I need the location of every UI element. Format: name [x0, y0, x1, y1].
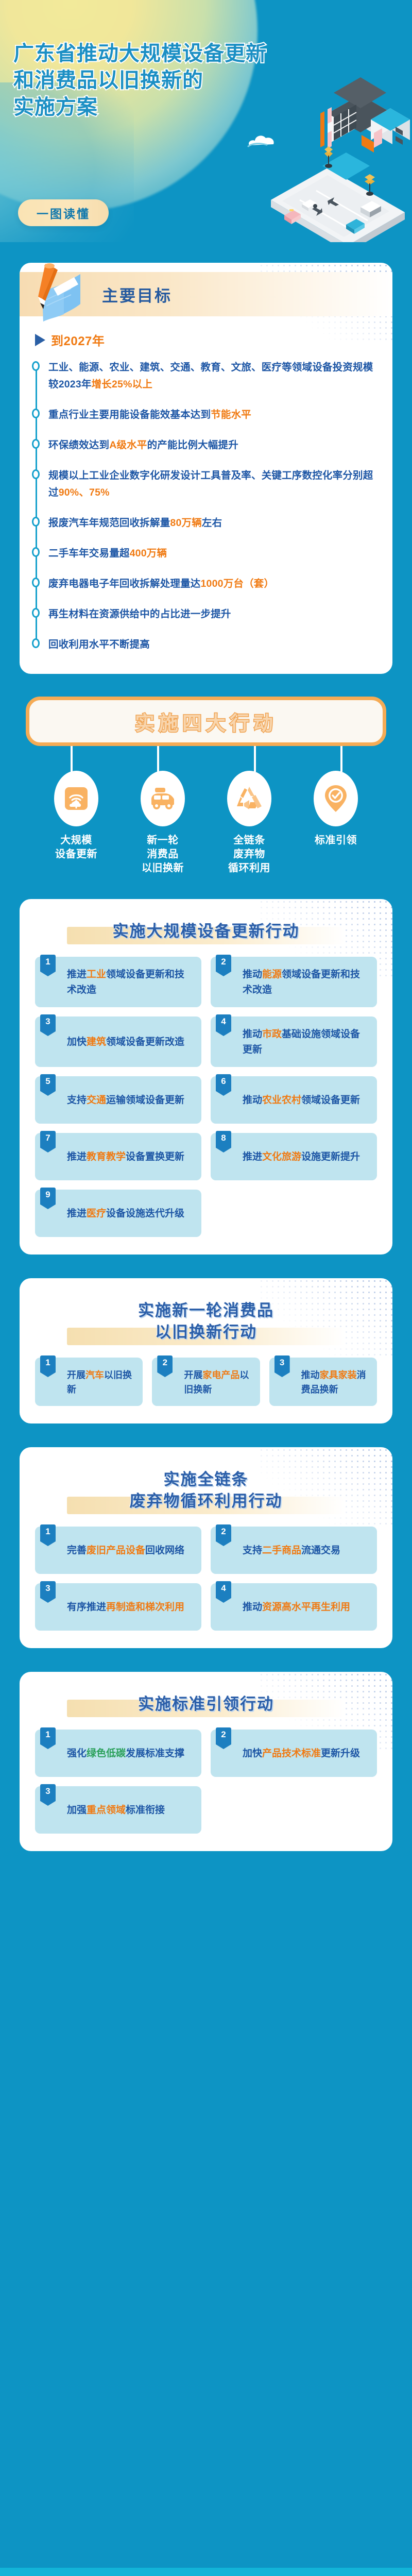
goal-item: 环保绩效达到A级水平的产能比例大幅提升: [48, 437, 375, 454]
goal-item: 再生材料在资源供给中的占比进一步提升: [48, 606, 375, 623]
action-section-title: 实施标准引领行动: [35, 1693, 377, 1715]
stem-2: [157, 746, 159, 772]
goal-item: 废弃电器电子年回收拆解处理量达1000万台（套）: [48, 575, 375, 592]
action-item-highlight: 重点领域: [87, 1805, 126, 1816]
action-item-number-badge: 8: [216, 1131, 231, 1153]
action-item-plain: 设备置换更新: [126, 1151, 184, 1162]
action-item-highlight: 市政: [262, 1029, 282, 1040]
recycle-icon: [236, 786, 263, 811]
action-item-text: 有序推进再制造和梯次利用: [67, 1600, 184, 1615]
goal-highlight: 80万辆: [170, 517, 202, 529]
goal-plain: 回收利用水平不断提高: [48, 639, 150, 650]
four-action-item-2[interactable]: 新一轮消费品以旧换新: [132, 771, 194, 875]
action-item-number-badge: 4: [216, 1014, 231, 1036]
action-item-highlight: 医疗: [87, 1208, 106, 1219]
action-item-plain: 回收网络: [145, 1545, 184, 1556]
action-item-text: 开展家电产品以旧换新: [184, 1368, 252, 1397]
action-item-highlight: 文化旅游: [262, 1151, 301, 1162]
goal-bullet-icon: [32, 517, 40, 527]
device-upgrade-icon: [63, 785, 90, 812]
action-item[interactable]: 7推进教育教学设备置换更新: [35, 1133, 201, 1180]
goal-bullet-icon: [32, 469, 40, 479]
isometric-city-illustration: [250, 77, 412, 242]
action-item[interactable]: 1开展汽车以旧换新: [35, 1358, 143, 1406]
action-item[interactable]: 2推动能源领域设备更新和技术改造: [211, 957, 377, 1007]
action-item[interactable]: 4推动资源高水平再生利用: [211, 1583, 377, 1631]
four-action-label-line: 设备更新: [55, 848, 97, 861]
four-actions-section: 实施四大行动: [0, 674, 412, 875]
action-item-highlight: 交通: [87, 1095, 106, 1106]
action-item-number-badge: 1: [40, 1524, 56, 1546]
standard-check-icon: [324, 784, 348, 813]
action-item-plain: 加快: [67, 1037, 87, 1047]
action-item-highlight: 建筑: [87, 1037, 106, 1047]
four-actions-title-box: 实施四大行动: [26, 697, 386, 746]
goal-highlight: 增长25%以上: [92, 379, 152, 390]
hero-title-line-3: 实施方案: [13, 94, 267, 121]
action-item-plain: 推进: [243, 1151, 262, 1162]
four-action-bulb-3: [227, 771, 271, 826]
four-actions-stems: [26, 746, 386, 772]
goal-text: 规模以上工业企业数字化研发设计工具普及率、关键工序数控化率分别超过90%、75%: [48, 467, 375, 501]
action-item-number-badge: 1: [40, 1355, 56, 1377]
action-item-plain: 支持: [243, 1545, 262, 1556]
goal-item: 工业、能源、农业、建筑、交通、教育、文旅、医疗等领域设备投资规模较2023年增长…: [48, 359, 375, 393]
action-item[interactable]: 1强化绿色低碳发展标准支撑: [35, 1730, 201, 1777]
action-item-number-badge: 2: [216, 1727, 231, 1749]
four-actions-title: 实施四大行动: [135, 707, 277, 736]
action-item-highlight: 资源高水平再生利用: [262, 1602, 350, 1613]
action-item-plain: 推动: [243, 969, 262, 980]
action-item-number-badge: 1: [40, 1727, 56, 1749]
action-item-plain: 推动: [243, 1602, 262, 1613]
action-item-text: 推动农业农村领域设备更新: [243, 1093, 360, 1108]
action-item[interactable]: 3推动家具家装消费品换新: [269, 1358, 377, 1406]
action-item-number-badge: 6: [216, 1074, 231, 1096]
action-item[interactable]: 2开展家电产品以旧换新: [152, 1358, 260, 1406]
action-section-title-line: 实施新一轮消费品: [35, 1300, 377, 1321]
action-item-plain: 推动: [243, 1095, 262, 1106]
action-item-text: 推进医疗设备设施迭代升级: [67, 1206, 184, 1222]
goal-bullet-icon: [32, 439, 40, 449]
goal-highlight: 90%、75%: [59, 487, 110, 498]
action-item-text: 推动家具家装消费品换新: [301, 1368, 370, 1397]
action-section-title-line: 实施全链条: [35, 1469, 377, 1490]
action-section-title-line: 实施大规模设备更新行动: [35, 921, 377, 942]
action-item-text: 完善废旧产品设备回收网络: [67, 1543, 184, 1558]
action-item-number-badge: 2: [216, 1524, 231, 1546]
action-item-plain: 领域设备更新: [301, 1095, 360, 1106]
hero-title: 广东省推动大规模设备更新 和消费品以旧换新的 实施方案: [13, 40, 267, 121]
action-item[interactable]: 3加强重点领域标准衔接: [35, 1786, 201, 1834]
action-sections: 实施大规模设备更新行动1推进工业领域设备更新和技术改造2推动能源领域设备更新和技…: [0, 899, 412, 1851]
goal-item: 二手车年交易量超400万辆: [48, 545, 375, 562]
goal-plain: 的产能比例大幅提升: [147, 439, 238, 451]
action-item-number-badge: 4: [216, 1581, 231, 1603]
action-item-plain: 设施更新提升: [301, 1151, 360, 1162]
goal-bullet-icon: [32, 638, 40, 648]
action-item-plain: 有序推进: [67, 1602, 106, 1613]
four-action-label-line: 循环利用: [228, 861, 270, 875]
action-item-number-badge: 7: [40, 1131, 56, 1153]
action-item[interactable]: 6推动农业农村领域设备更新: [211, 1076, 377, 1124]
action-item-number-badge: 5: [40, 1074, 56, 1096]
goal-item: 重点行业主要用能设备能效基本达到节能水平: [48, 406, 375, 423]
action-item-plain: 设备设施迭代升级: [106, 1208, 184, 1219]
action-item-highlight: 家电产品: [202, 1370, 239, 1380]
footer-bar: 广东省人民政府门户网站: [0, 2568, 412, 2576]
action-item-text: 加快建筑领域设备更新改造: [67, 1035, 184, 1050]
action-item[interactable]: 2加快产品技术标准更新升级: [211, 1730, 377, 1777]
action-item-text: 推动市政基础设施领域设备更新: [243, 1027, 370, 1058]
hero-banner: 广东省推动大规模设备更新 和消费品以旧换新的 实施方案 一图读懂: [0, 0, 412, 242]
goal-highlight: 节能水平: [211, 409, 251, 420]
action-section-title: 实施新一轮消费品以旧换新行动: [35, 1300, 377, 1343]
four-action-label-line: 全链条: [228, 834, 270, 848]
goal-text: 二手车年交易量超400万辆: [48, 545, 375, 562]
action-item-plain: 支持: [67, 1095, 87, 1106]
goal-text: 再生材料在资源供给中的占比进一步提升: [48, 606, 375, 623]
action-item-plain: 领域设备更新改造: [106, 1037, 184, 1047]
goal-bullet-icon: [32, 578, 40, 587]
action-item[interactable]: 4推动市政基础设施领域设备更新: [211, 1016, 377, 1067]
action-item-text: 开展汽车以旧换新: [67, 1368, 135, 1397]
four-action-bulb-4: [314, 771, 358, 826]
action-item-number-badge: 1: [40, 955, 56, 976]
goal-item: 报废汽车年规范回收拆解量80万辆左右: [48, 515, 375, 532]
stem-1: [71, 746, 73, 772]
action-section-title-wrap: 实施全链条废弃物循环利用行动: [35, 1465, 377, 1515]
four-action-label-1: 大规模设备更新: [55, 834, 97, 861]
goal-item: 回收利用水平不断提高: [48, 636, 375, 653]
four-action-label-line: 大规模: [55, 834, 97, 848]
action-item[interactable]: 2支持二手商品流通交易: [211, 1527, 377, 1574]
main-goals-heading: 主要目标: [102, 283, 172, 306]
action-item-highlight: 产品技术标准: [262, 1748, 321, 1759]
action-item[interactable]: 1完善废旧产品设备回收网络: [35, 1527, 201, 1574]
action-item-text: 推进教育教学设备置换更新: [67, 1149, 184, 1165]
goal-plain: 环保绩效达到: [48, 439, 109, 451]
goal-plain: 二手车年交易量超: [48, 548, 130, 559]
action-item-plain: 推进: [67, 969, 87, 980]
four-action-label-line: 消费品: [142, 848, 184, 861]
four-action-item-1[interactable]: 大规模设备更新: [45, 771, 107, 875]
four-action-label-4: 标准引领: [315, 834, 357, 848]
goal-plain: 左右: [202, 517, 222, 529]
action-item-number-badge: 3: [40, 1784, 56, 1806]
action-item-plain: 加快: [243, 1748, 262, 1759]
action-item-plain: 完善: [67, 1545, 87, 1556]
hero-title-line-2: 和消费品以旧换新的: [13, 67, 267, 94]
stem-3: [254, 746, 256, 772]
goal-plain: 重点行业主要用能设备能效基本达到: [48, 409, 211, 420]
goal-text: 废弃电器电子年回收拆解处理量达1000万台（套）: [48, 575, 375, 592]
action-section-title: 实施全链条废弃物循环利用行动: [35, 1469, 377, 1512]
four-action-label-line: 废弃物: [228, 848, 270, 861]
main-goals-list: 工业、能源、农业、建筑、交通、教育、文旅、医疗等领域设备投资规模较2023年增长…: [20, 356, 392, 653]
read-in-one-image-label: 一图读懂: [37, 204, 90, 222]
action-item-number-badge: 2: [157, 1355, 173, 1377]
goal-highlight: 1000万台（套）: [201, 578, 274, 589]
action-item-plain: 推进: [67, 1208, 87, 1219]
four-action-label-line: 以旧换新: [142, 861, 184, 875]
goal-text: 环保绩效达到A级水平的产能比例大幅提升: [48, 437, 375, 454]
goal-highlight: A级水平: [109, 439, 147, 451]
action-item-number-badge: 9: [40, 1188, 56, 1209]
four-action-bulb-1: [54, 771, 98, 826]
goal-highlight: 400万辆: [130, 548, 167, 559]
infographic-page: 广东省推动大规模设备更新 和消费品以旧换新的 实施方案 一图读懂: [0, 0, 412, 2576]
action-section-title: 实施大规模设备更新行动: [35, 921, 377, 942]
action-item-text: 推动能源领域设备更新和技术改造: [243, 967, 370, 998]
action-section-title-line: 以旧换新行动: [35, 1321, 377, 1343]
action-item-highlight: 汽车: [85, 1370, 104, 1380]
action-item-number-badge: 3: [40, 1014, 56, 1036]
action-item-plain: 开展: [67, 1370, 85, 1380]
action-section-title-line: 废弃物循环利用行动: [35, 1490, 377, 1512]
action-section-title-wrap: 实施新一轮消费品以旧换新行动: [35, 1296, 377, 1346]
action-item-number-badge: 2: [216, 955, 231, 976]
goal-text: 工业、能源、农业、建筑、交通、教育、文旅、医疗等领域设备投资规模较2023年增长…: [48, 359, 375, 393]
goals-timeline-spine: [36, 363, 37, 645]
stem-4: [340, 746, 342, 772]
action-item-highlight: 家具家装: [320, 1370, 357, 1380]
action-item-highlight: 绿色低碳: [87, 1748, 126, 1759]
action-section-title-line: 实施标准引领行动: [35, 1693, 377, 1715]
action-item-plain: 运输领域设备更新: [106, 1095, 184, 1106]
main-goals-card: 主要目标 到2027年 工业、能源、农业、建筑、交通、教育、文旅、医疗等领域设备…: [20, 263, 392, 674]
goal-text: 回收利用水平不断提高: [48, 636, 375, 653]
action-item-text: 强化绿色低碳发展标准支撑: [67, 1746, 184, 1761]
action-item-grid: 1开展汽车以旧换新2开展家电产品以旧换新3推动家具家装消费品换新: [35, 1358, 377, 1406]
action-item-text: 推进文化旅游设施更新提升: [243, 1149, 360, 1165]
action-item-plain: 推进: [67, 1151, 87, 1162]
action-item-highlight: 能源: [262, 969, 282, 980]
action-item-text: 支持交通运输领域设备更新: [67, 1093, 184, 1108]
four-action-label-line: 新一轮: [142, 834, 184, 848]
action-item[interactable]: 3有序推进再制造和梯次利用: [35, 1583, 201, 1631]
action-item-number-badge: 3: [274, 1355, 290, 1377]
goal-plain: 废弃电器电子年回收拆解处理量达: [48, 578, 201, 589]
action-item-highlight: 废旧产品设备: [87, 1545, 145, 1556]
action-section-title-wrap: 实施大规模设备更新行动: [35, 917, 377, 945]
action-item-grid: 1完善废旧产品设备回收网络2支持二手商品流通交易3有序推进再制造和梯次利用4推动…: [35, 1527, 377, 1631]
action-section-card: 实施全链条废弃物循环利用行动1完善废旧产品设备回收网络2支持二手商品流通交易3有…: [20, 1447, 392, 1648]
action-item-plain: 流通交易: [301, 1545, 340, 1556]
goal-plain: 报废汽车年规范回收拆解量: [48, 517, 170, 529]
action-section-title-wrap: 实施标准引领行动: [35, 1689, 377, 1718]
action-section-card: 实施新一轮消费品以旧换新行动1开展汽车以旧换新2开展家电产品以旧换新3推动家具家…: [20, 1278, 392, 1423]
four-action-label-line: 标准引领: [315, 834, 357, 848]
goal-text: 报废汽车年规范回收拆解量80万辆左右: [48, 515, 375, 532]
read-in-one-image-badge: 一图读懂: [18, 199, 109, 226]
four-action-label-2: 新一轮消费品以旧换新: [142, 834, 184, 875]
action-item-highlight: 教育教学: [87, 1151, 126, 1162]
goal-bullet-icon: [32, 547, 40, 557]
action-item-plain: 发展标准支撑: [126, 1748, 184, 1759]
action-item-text: 支持二手商品流通交易: [243, 1543, 340, 1558]
action-item-text: 推动资源高水平再生利用: [243, 1600, 350, 1615]
triangle-bullet-icon: [35, 334, 45, 346]
action-item-text: 加强重点领域标准衔接: [67, 1803, 165, 1818]
four-action-item-4[interactable]: 标准引领: [305, 771, 367, 875]
car-trade-in-icon: [148, 787, 177, 810]
action-item-plain: 加强: [67, 1805, 87, 1816]
main-goals-header: 主要目标: [20, 272, 392, 316]
action-section-card: 实施大规模设备更新行动1推进工业领域设备更新和技术改造2推动能源领域设备更新和技…: [20, 899, 392, 1255]
action-item-highlight: 农业农村: [262, 1095, 301, 1106]
goal-item: 规模以上工业企业数字化研发设计工具普及率、关键工序数控化率分别超过90%、75%: [48, 467, 375, 501]
goal-bullet-icon: [32, 361, 40, 371]
four-action-label-3: 全链条废弃物循环利用: [228, 834, 270, 875]
action-item-plain: 推动: [301, 1370, 320, 1380]
action-item[interactable]: 8推进文化旅游设施更新提升: [211, 1133, 377, 1180]
action-item-plain: 推动: [243, 1029, 262, 1040]
action-item[interactable]: 5支持交通运输领域设备更新: [35, 1076, 201, 1124]
action-item-highlight: 再制造和梯次利用: [106, 1602, 184, 1613]
action-item-grid: 1推进工业领域设备更新和技术改造2推动能源领域设备更新和技术改造3加快建筑领域设…: [35, 957, 377, 1237]
action-item-number-badge: 3: [40, 1581, 56, 1603]
action-item-plain: 标准衔接: [126, 1805, 165, 1816]
four-actions-icon-row: 大规模设备更新 新一轮消费品以旧换新: [0, 771, 412, 875]
goal-plain: 再生材料在资源供给中的占比进一步提升: [48, 608, 231, 620]
four-action-item-3[interactable]: 全链条废弃物循环利用: [218, 771, 280, 875]
goal-bullet-icon: [32, 409, 40, 418]
action-item-plain: 强化: [67, 1748, 87, 1759]
action-item-text: 加快产品技术标准更新升级: [243, 1746, 360, 1761]
pencil-note-icon: [31, 263, 89, 326]
four-action-bulb-2: [141, 771, 185, 826]
action-item-highlight: 二手商品: [262, 1545, 301, 1556]
action-item[interactable]: 1推进工业领域设备更新和技术改造: [35, 957, 201, 1007]
action-item[interactable]: 3加快建筑领域设备更新改造: [35, 1016, 201, 1067]
goal-text: 重点行业主要用能设备能效基本达到节能水平: [48, 406, 375, 423]
hero-title-line-1: 广东省推动大规模设备更新: [13, 40, 267, 67]
action-item-plain: 更新升级: [321, 1748, 360, 1759]
goal-bullet-icon: [32, 608, 40, 618]
target-year-label: 到2027年: [51, 331, 105, 349]
action-item-plain: 开展: [184, 1370, 202, 1380]
action-section-card: 实施标准引领行动1强化绿色低碳发展标准支撑2加快产品技术标准更新升级3加强重点领…: [20, 1672, 392, 1851]
action-item[interactable]: 9推进医疗设备设施迭代升级: [35, 1190, 201, 1237]
action-item-text: 推进工业领域设备更新和技术改造: [67, 967, 194, 998]
action-item-grid: 1强化绿色低碳发展标准支撑2加快产品技术标准更新升级3加强重点领域标准衔接: [35, 1730, 377, 1834]
cloud-icon: [246, 130, 277, 147]
action-item-highlight: 工业: [87, 969, 106, 980]
